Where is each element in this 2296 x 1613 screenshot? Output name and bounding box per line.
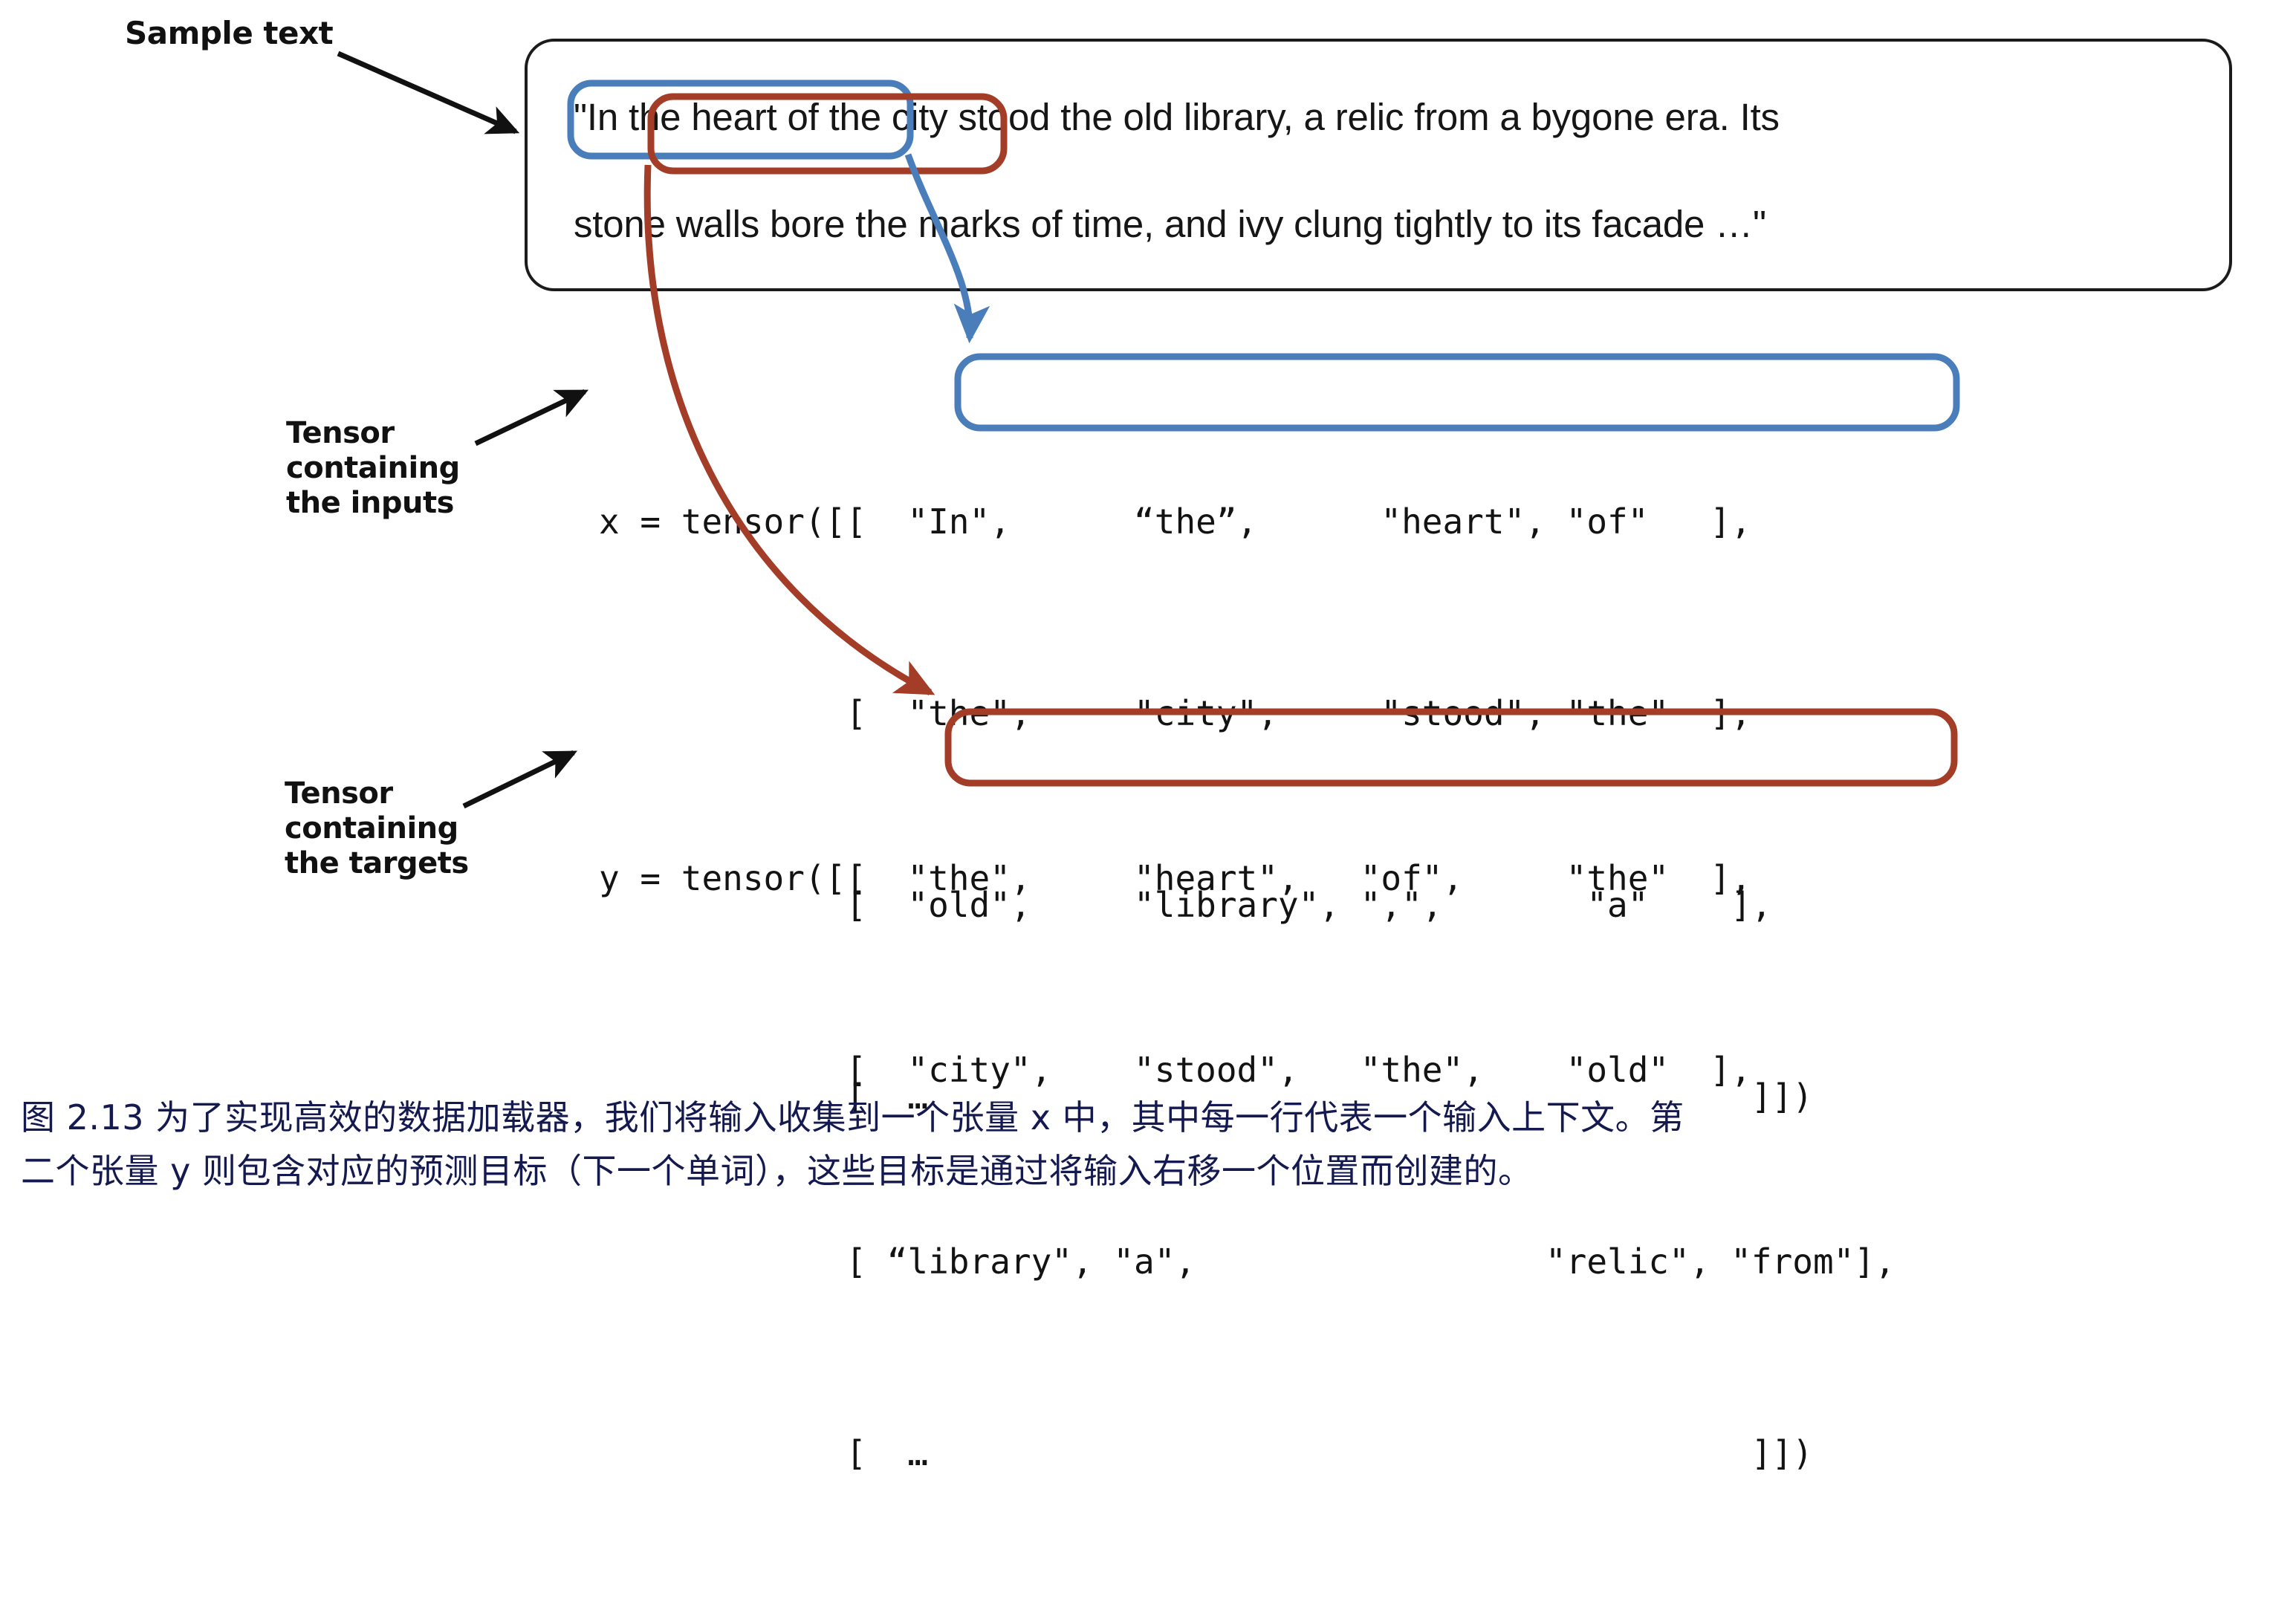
tensor-inputs-pointer-arrow — [476, 392, 585, 444]
sample-text-annotation: Sample text — [125, 15, 333, 52]
figure-canvas: "In the heart of the city stood the old … — [0, 0, 2296, 1239]
figure-caption-line-1: 图 2.13 为了实现高效的数据加载器，我们将输入收集到一个张量 x 中，其中每… — [21, 1091, 2280, 1144]
tensor-x-row-0: x = tensor([[ "In", “the”, "heart", "of"… — [599, 490, 1813, 554]
tensor-inputs-annotation-line-3: the inputs — [286, 486, 460, 521]
tensor-targets-annotation-line-2: containing — [285, 811, 469, 846]
tensor-targets-annotation: Tensor containing the targets — [285, 776, 469, 882]
tensor-y-row-3: [ … ]]) — [599, 1421, 1896, 1485]
sample-text-line-1: "In the heart of the city stood the old … — [574, 95, 1780, 139]
tensor-inputs-annotation-line-1: Tensor — [286, 416, 460, 451]
tensor-targets-pointer-arrow — [464, 753, 574, 806]
tensor-targets-annotation-line-1: Tensor — [285, 776, 469, 811]
sample-text-annotation-line: Sample text — [125, 15, 333, 52]
figure-caption-line-2: 二个张量 y 则包含对应的预测目标（下一个单词），这些目标是通过将输入右移一个位… — [21, 1144, 2280, 1198]
tensor-y-row-0: y = tensor([[ "the", "heart", "of", "the… — [599, 846, 1896, 910]
sample-text-container — [525, 39, 2232, 291]
tensor-inputs-annotation: Tensor containing the inputs — [286, 416, 460, 522]
tensor-inputs-annotation-line-2: containing — [286, 451, 460, 486]
tensor-targets-annotation-line-3: the targets — [285, 846, 469, 881]
figure-caption: 图 2.13 为了实现高效的数据加载器，我们将输入收集到一个张量 x 中，其中每… — [21, 1091, 2280, 1198]
sample-text-pointer-arrow — [338, 53, 516, 132]
sample-text-line-2: stone walls bore the marks of time, and … — [574, 202, 1766, 246]
